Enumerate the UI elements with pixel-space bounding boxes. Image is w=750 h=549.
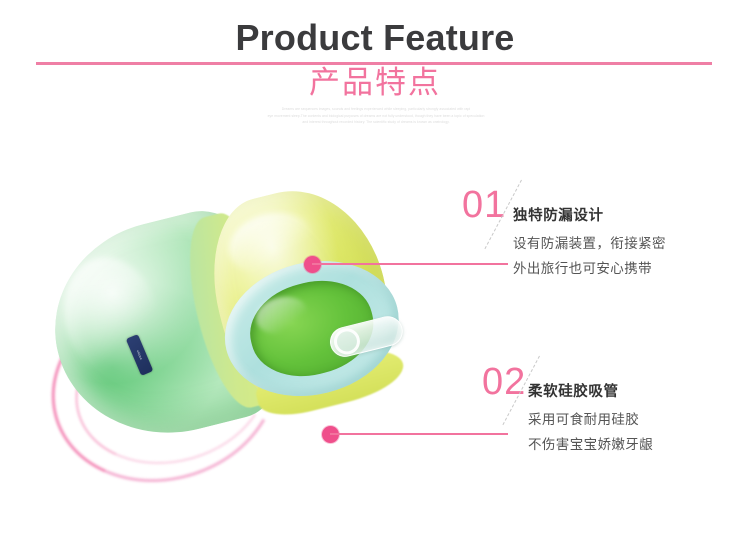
callout-title-02: 柔软硅胶吸管	[528, 382, 750, 402]
callout-title-01: 独特防漏设计	[513, 206, 743, 226]
callout-desc-line1-02: 采用可食耐用硅胶	[528, 407, 750, 432]
page-title-english: Product Feature	[0, 17, 750, 59]
callout-underline-01	[450, 263, 508, 265]
blurb-line: eye movement sleep.The contents and biol…	[238, 113, 514, 120]
callout-desc-line1-01: 设有防漏装置，衔接紧密	[513, 231, 743, 256]
page-header: Product Feature 产品特点 Dreams are sequence…	[0, 0, 750, 140]
callout-underline-02	[450, 433, 508, 435]
callout-desc-line2-02: 不伤害宝宝娇嫩牙龈	[528, 432, 750, 457]
callout-desc-line2-01: 外出旅行也可安心携带	[513, 256, 743, 281]
product-image-stage: chicco	[0, 140, 750, 549]
page-title-chinese: 产品特点	[0, 64, 750, 102]
product-sippy-cup-image: chicco	[22, 150, 424, 523]
callout-number-02: 02	[482, 363, 526, 401]
blurb-line: and interest throughout recorded history…	[238, 119, 514, 126]
header-blurb-text: Dreams are sequences images, sounds and …	[238, 106, 514, 126]
blurb-line: Dreams are sequences images, sounds and …	[238, 106, 514, 113]
